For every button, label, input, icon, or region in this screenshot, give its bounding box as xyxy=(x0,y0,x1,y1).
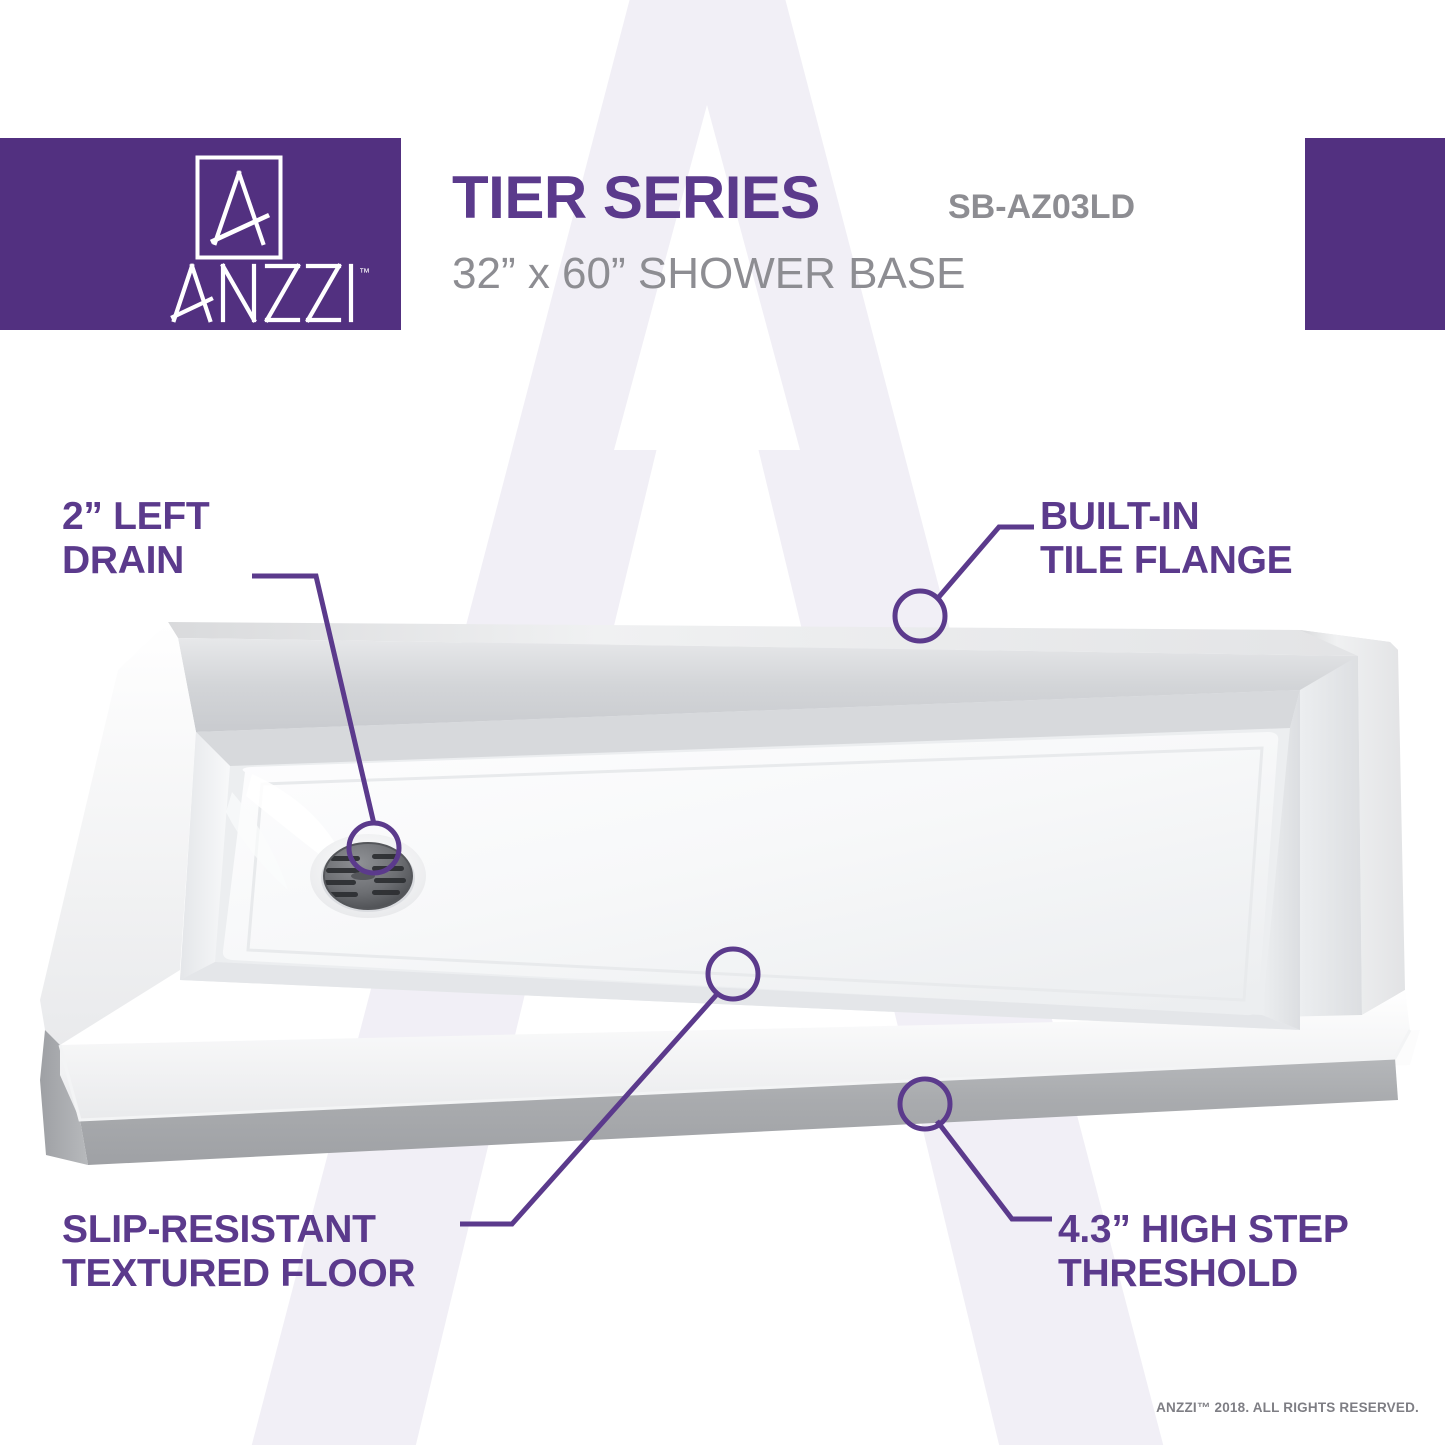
callout-textured-floor: SLIP-RESISTANT TEXTURED FLOOR xyxy=(62,1208,482,1296)
model-number: SB-AZ03LD xyxy=(948,190,1135,224)
callout-floor-line1: SLIP-RESISTANT xyxy=(62,1208,482,1252)
copyright-notice: ANZZI™ 2018. ALL RIGHTS RESERVED. xyxy=(1156,1400,1419,1415)
callout-threshold: 4.3” HIGH STEP THRESHOLD xyxy=(1058,1208,1418,1296)
anzzi-wordmark-icon: ™ xyxy=(170,262,370,324)
callout-threshold-line1: 4.3” HIGH STEP xyxy=(1058,1208,1418,1252)
trademark-glyph: ™ xyxy=(359,267,370,279)
callout-tile-flange: BUILT-IN TILE FLANGE xyxy=(1040,495,1400,583)
callout-drain-line2: DRAIN xyxy=(62,539,362,583)
callout-drain-line1: 2” LEFT xyxy=(62,495,362,539)
callout-floor-line2: TEXTURED FLOOR xyxy=(62,1252,482,1296)
drain-grate-icon xyxy=(310,834,426,918)
callout-flange-line2: TILE FLANGE xyxy=(1040,539,1400,583)
page-subtitle: 32” x 60” SHOWER BASE xyxy=(452,252,965,296)
header-accent-block xyxy=(1305,138,1445,330)
infographic-canvas: ™ TIER SERIES SB-AZ03LD 32” x 60” SHOWER… xyxy=(0,0,1445,1445)
anzzi-logo: ™ xyxy=(175,150,390,330)
anzzi-a-mark-icon xyxy=(195,155,283,260)
callout-threshold-line2: THRESHOLD xyxy=(1058,1252,1418,1296)
callout-flange-line1: BUILT-IN xyxy=(1040,495,1400,539)
page-title: TIER SERIES xyxy=(452,168,820,228)
product-shower-base-image xyxy=(0,560,1445,1200)
callout-drain: 2” LEFT DRAIN xyxy=(62,495,362,583)
